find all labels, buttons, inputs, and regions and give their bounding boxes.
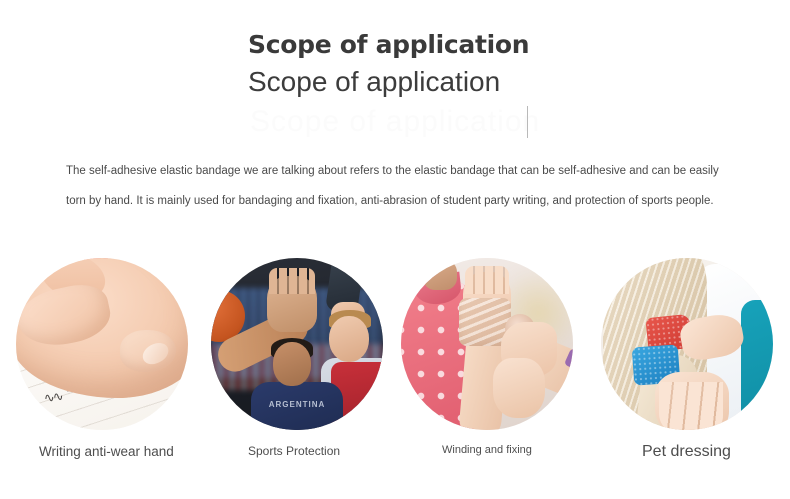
basketball-illustration: ARGENTINA	[211, 258, 383, 430]
shooter-head-shape	[273, 342, 311, 386]
feature-list: ∿∿ Writing anti-wear hand	[0, 258, 790, 488]
feature-caption: Pet dressing	[601, 444, 790, 459]
feature-image-writing-anti-wear-hand: ∿∿	[16, 258, 188, 430]
feature-item: Winding and fixing	[401, 258, 581, 457]
vet-fingers-shape	[659, 382, 723, 430]
heading-divider	[527, 106, 528, 138]
raised-fingers-shape	[269, 268, 315, 294]
pet-bandaging-illustration	[601, 258, 773, 430]
jersey-team-name: ARGENTINA	[257, 400, 337, 409]
feature-image-winding-and-fixing	[401, 258, 573, 430]
feature-image-sports-protection: ARGENTINA	[211, 258, 383, 430]
neck-shape	[423, 260, 457, 290]
feature-caption: Writing anti-wear hand	[16, 444, 179, 459]
feature-item: ARGENTINA Sports Protection	[211, 258, 391, 459]
page-subtitle: Scope of application	[248, 62, 520, 102]
heading-watermark: Scope of application	[250, 100, 540, 144]
helper-lower-hand-shape	[493, 358, 545, 418]
page-title: Scope of application	[248, 30, 548, 60]
feature-caption: Sports Protection	[211, 444, 388, 459]
feature-item: Pet dressing	[601, 258, 781, 459]
description-paragraph: The self-adhesive elastic bandage we are…	[66, 156, 726, 216]
feature-caption: Winding and fixing	[401, 444, 552, 457]
feature-image-pet-dressing	[601, 258, 773, 430]
product-infographic-page: Scope of application Scope of applicatio…	[0, 0, 790, 499]
feature-item: ∿∿ Writing anti-wear hand	[16, 258, 196, 459]
wrist-bandaging-illustration	[401, 258, 573, 430]
patient-fingers-shape	[465, 266, 509, 294]
defender-head-shape	[329, 316, 369, 362]
vet-teal-scrub-shape	[741, 300, 773, 430]
heading-block: Scope of application Scope of applicatio…	[248, 30, 548, 102]
hand-writing-illustration: ∿∿	[16, 258, 188, 430]
